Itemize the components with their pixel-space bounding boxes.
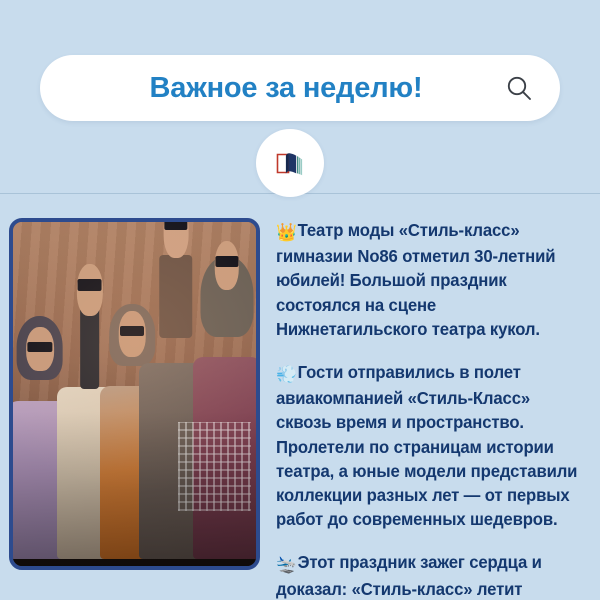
page-header: Важное за неделю! [0,0,600,194]
paragraph-text: Этот праздник зажег сердца и доказал: «С… [276,552,542,600]
paragraph: 🛬Этот праздник зажег сердца и доказал: «… [276,550,578,600]
photo-scene [13,222,256,566]
open-book-badge[interactable] [256,129,324,197]
dash-wind-emoji: 💨 [276,362,297,386]
paragraph-text: Театр моды «Стиль-класс» гимназии No86 о… [276,220,555,339]
paragraph: 💨Гости отправились в полет авиакомпанией… [276,360,578,531]
post-content: 👑Театр моды «Стиль-класс» гимназии No86 … [0,194,600,600]
paragraph-text: Гости отправились в полет авиакомпанией … [276,362,577,529]
photo-lighting-overlay [13,222,256,566]
airplane-arrival-emoji: 🛬 [276,552,297,576]
page-title: Важное за неделю! [150,72,423,105]
search-bar[interactable]: Важное за неделю! [40,55,560,121]
search-icon[interactable] [504,73,534,103]
post-photo[interactable] [9,218,260,570]
paragraph: 👑Театр моды «Стиль-класс» гимназии No86 … [276,218,578,341]
open-book-icon [273,146,307,180]
post-text: 👑Театр моды «Стиль-класс» гимназии No86 … [276,218,592,600]
crown-emoji: 👑 [276,220,297,244]
